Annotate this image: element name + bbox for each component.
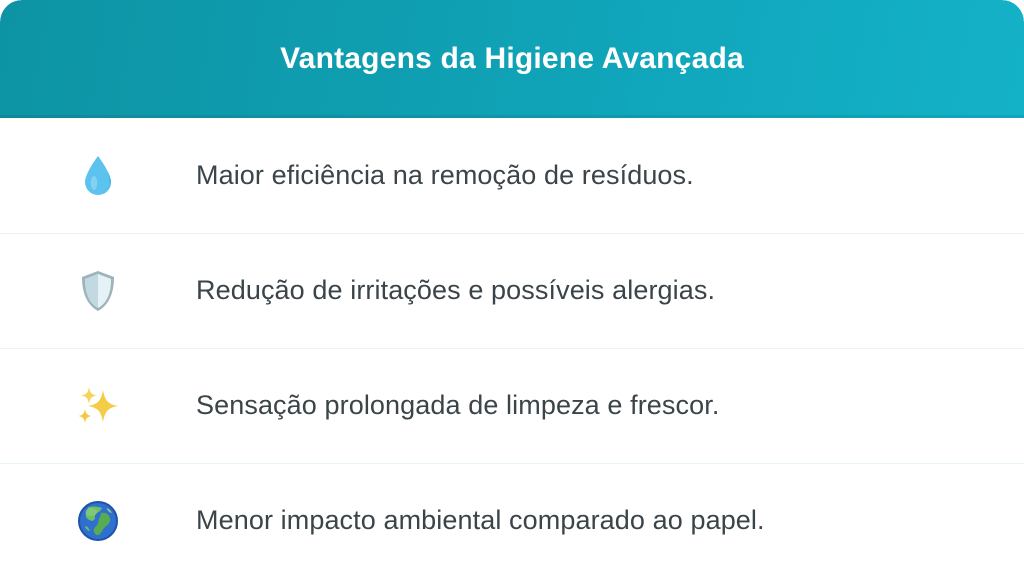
card-header: Vantagens da Higiene Avançada <box>0 0 1024 118</box>
list-item: Maior eficiência na remoção de resíduos. <box>0 118 1024 233</box>
list-item: Redução de irritações e possíveis alergi… <box>0 233 1024 348</box>
list-item-label: Maior eficiência na remoção de resíduos. <box>196 159 1024 193</box>
water-droplet-icon <box>0 155 196 197</box>
shield-icon <box>0 269 196 313</box>
page-title: Vantagens da Higiene Avançada <box>280 42 744 77</box>
list-item-label: Redução de irritações e possíveis alergi… <box>196 274 1024 308</box>
benefits-list: Maior eficiência na remoção de resíduos.… <box>0 118 1024 578</box>
list-item-label: Menor impacto ambiental comparado ao pap… <box>196 504 1024 538</box>
sparkles-icon <box>0 384 196 428</box>
list-item: Menor impacto ambiental comparado ao pap… <box>0 463 1024 578</box>
benefits-card: Vantagens da Higiene Avançada Maior efic… <box>0 0 1024 583</box>
list-item: Sensação prolongada de limpeza e frescor… <box>0 348 1024 463</box>
globe-earth-icon <box>0 500 196 542</box>
list-item-label: Sensação prolongada de limpeza e frescor… <box>196 389 1024 423</box>
